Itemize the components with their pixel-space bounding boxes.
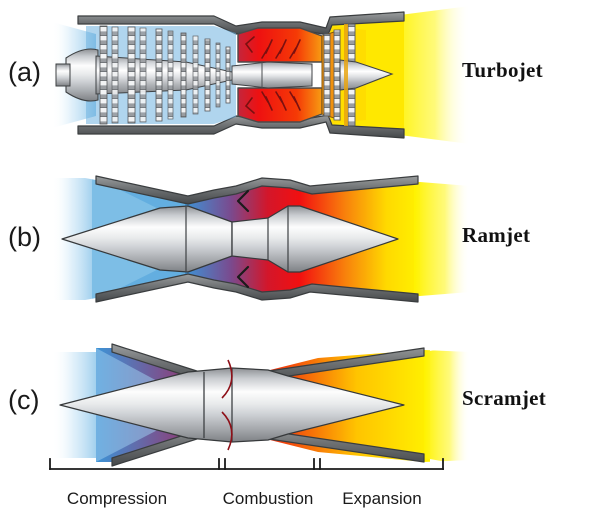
jet-engine-comparison-diagram: (a) (b) (c) Turbojet Ramjet Scramjet Com… (0, 0, 600, 514)
engine-label-scramjet: Scramjet (462, 386, 546, 411)
combustor-shell-bottom (238, 88, 322, 122)
panel-turbojet-graphic (52, 6, 470, 144)
panel-scramjet-graphic (52, 330, 470, 486)
stage-label-combustion: Combustion (223, 489, 314, 509)
nozzle-lip (344, 24, 348, 126)
nose-cone-shaft (56, 64, 70, 86)
engine-label-ramjet: Ramjet (462, 223, 530, 248)
inlet-nose-cone (66, 49, 98, 101)
combustor-shell-top (238, 28, 322, 62)
panel-letter-a: (a) (8, 57, 41, 88)
stage-label-compression: Compression (67, 489, 167, 509)
stage-label-expansion: Expansion (342, 489, 421, 509)
panel-ramjet-graphic (52, 160, 470, 318)
panel-letter-b: (b) (8, 222, 41, 253)
engine-label-turbojet: Turbojet (462, 58, 543, 83)
panel-letter-c: (c) (8, 385, 39, 416)
combustor-centre-spool (232, 62, 312, 88)
